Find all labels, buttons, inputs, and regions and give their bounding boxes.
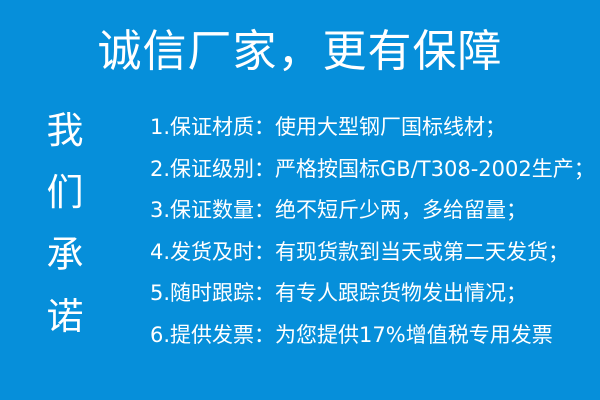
vertical-label-char-4: 诺 (47, 286, 84, 348)
promise-item: 2.保证级别：严格按国标GB/T308-2002生产； (150, 149, 590, 191)
promise-item: 3.保证数量：绝不短斤少两，多给留量； (150, 190, 590, 232)
promise-item: 1.保证材质：使用大型钢厂国标线材； (150, 107, 590, 149)
vertical-label-we-promise: 我 们 承 诺 (34, 100, 96, 348)
promise-item: 4.发货及时：有现货款到当天或第二天发货； (150, 232, 590, 274)
promise-banner: 诚信厂家，更有保障 我 们 承 诺 1.保证材质：使用大型钢厂国标线材； 2.保… (0, 0, 600, 400)
promise-item: 5.随时跟踪：有专人跟踪货物发出情况； (150, 273, 590, 315)
promise-item: 6.提供发票：为您提供17%增值税专用发票 (150, 315, 590, 357)
vertical-label-char-1: 我 (47, 100, 84, 162)
vertical-label-char-2: 们 (47, 162, 84, 224)
banner-title: 诚信厂家，更有保障 (0, 21, 600, 83)
vertical-label-char-3: 承 (47, 224, 84, 286)
promise-list: 1.保证材质：使用大型钢厂国标线材； 2.保证级别：严格按国标GB/T308-2… (150, 107, 590, 356)
